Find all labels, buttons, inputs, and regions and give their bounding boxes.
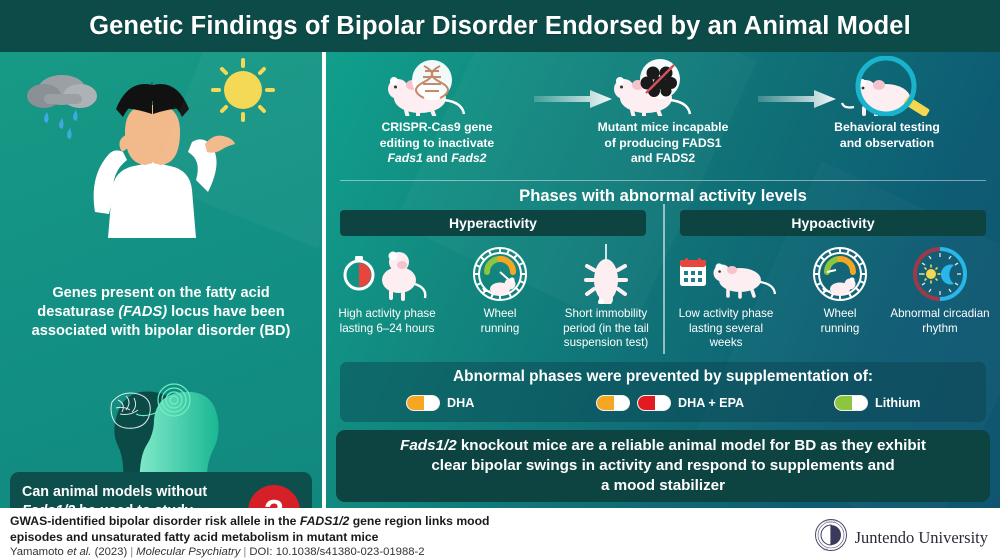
workflow-step-3-label: Behavioral testing and observation (794, 120, 980, 151)
mood-figures-illustration (0, 52, 322, 242)
conclusion-card: Fads1/2 knockout mice are a reliable ani… (336, 430, 990, 502)
symptom-circadian-rhythm: Abnormal circadian rhythm (888, 244, 992, 336)
symptom-wheel-running-high: Wheel running (448, 244, 552, 336)
caption-line-2b: locus have been (167, 304, 285, 320)
sym4-l2: lasting several weeks (689, 322, 763, 350)
mouse-no-fads-icon (570, 56, 756, 116)
figure-sad (94, 84, 154, 238)
figure-happy (152, 84, 235, 238)
supplement-label-lithium: Lithium (875, 396, 920, 410)
juntendo-university-seal-icon: JUNTENDO 1838 (814, 518, 848, 557)
stopwatch-mouse-icon (335, 244, 439, 304)
research-question-card: Can animal models without Fads1/2 be use… (10, 472, 312, 508)
sym3-l2: period (in the tail (563, 322, 649, 335)
paper-title: GWAS-identified bipolar disorder risk al… (10, 514, 710, 545)
running-wheel-gauge-high-icon (448, 244, 552, 304)
citation-year: (2023) (91, 546, 127, 558)
paper-citation: Yamamoto et al. (2023)|Molecular Psychia… (10, 546, 425, 558)
step3-line1: Behavioral testing (834, 120, 940, 134)
sym5-l1: Wheel (824, 307, 857, 320)
symptom-4-text: Low activity phase lasting several weeks (674, 307, 778, 351)
running-wheel-gauge-low-icon (788, 244, 892, 304)
paper-title-gene: FADS1/2 (300, 514, 349, 528)
sym3-l1: Short immobility (565, 307, 647, 320)
phase-header-hyperactivity: Hyperactivity (340, 210, 646, 236)
section-divider (340, 180, 986, 181)
workflow-step-1: CRISPR-Cas9 gene editing to inactivate F… (344, 56, 530, 167)
symptom-2-text: Wheel running (448, 307, 552, 336)
citation-authors: Yamamoto (10, 546, 67, 558)
mouse-magnifier-icon (794, 56, 980, 116)
conclusion-line-2: clear bipolar swings in activity and res… (431, 457, 894, 474)
poster-body: Genes present on the fatty acid desatura… (0, 52, 1000, 508)
sym3-l3: suspension test) (564, 336, 648, 349)
symptom-high-activity-phase: High activity phase lasting 6–24 hours (335, 244, 439, 336)
calendar-mouse-icon (674, 244, 778, 304)
symptom-wheel-running-low: Wheel running (788, 244, 892, 336)
supplementation-title: Abnormal phases were prevented by supple… (340, 368, 986, 386)
mouse-dna-icon (344, 56, 530, 116)
caption-line-1: Genes present on the fatty acid (52, 285, 269, 301)
symptom-low-activity-phase: Low activity phase lasting several weeks (674, 244, 778, 351)
poster-title: Genetic Findings of Bipolar Disorder End… (89, 12, 911, 41)
capsule-icon-dha2 (596, 395, 630, 411)
workflow-step-2: Mutant mice incapable of producing FADS1… (570, 56, 756, 167)
supplementation-box: Abnormal phases were prevented by supple… (340, 362, 986, 422)
capsule-icon-lithium (834, 395, 868, 411)
workflow-steps: CRISPR-Cas9 gene editing to inactivate F… (326, 52, 1000, 174)
conclusion-line-3: a mood stabilizer (601, 477, 725, 494)
citation-journal: Molecular Psychiatry (136, 546, 240, 558)
workflow-step-1-label: CRISPR-Cas9 gene editing to inactivate F… (344, 120, 530, 167)
paper-title-b: gene region links mood (349, 514, 489, 528)
workflow-step-3: Behavioral testing and observation (794, 56, 980, 151)
supplement-label-dha: DHA (447, 396, 474, 410)
step1-gene-b: Fads2 (451, 151, 486, 165)
supplement-item-dha: DHA (406, 395, 474, 411)
circadian-clock-sun-moon-icon (888, 244, 992, 304)
paper-title-a: GWAS-identified bipolar disorder risk al… (10, 514, 300, 528)
sun-icon (213, 60, 273, 120)
capsule-icon-epa (637, 395, 671, 411)
supplement-item-lithium: Lithium (834, 395, 920, 411)
symptom-3-text: Short immobility period (in the tail sus… (554, 307, 658, 351)
phase-header-hypoactivity: Hypoactivity (680, 210, 986, 236)
step1-and: and (423, 151, 451, 165)
university-logo: JUNTENDO 1838 Juntendo University (814, 518, 988, 557)
sym6-l2: rhythm (922, 322, 957, 335)
symptom-short-immobility: Short immobility period (in the tail sus… (554, 244, 658, 351)
caption-line-2a: desaturase (37, 304, 118, 320)
svg-text:1838: 1838 (823, 549, 829, 552)
citation-doi[interactable]: DOI: 10.1038/s41380-023-01988-2 (249, 546, 424, 558)
left-panel: Genes present on the fatty acid desatura… (0, 52, 322, 508)
symptom-1-text: High activity phase lasting 6–24 hours (335, 307, 439, 336)
sym5-l2: running (821, 322, 860, 335)
symptom-5-text: Wheel running (788, 307, 892, 336)
phase-column-divider (663, 204, 665, 354)
moon-icon-small (941, 265, 954, 285)
supplement-pill-row: DHA DHA + EPA Lithium (340, 395, 986, 419)
conclusion-line-1: knockout mice are a reliable animal mode… (457, 437, 926, 454)
poster-footer: GWAS-identified bipolar disorder risk al… (0, 508, 1000, 559)
conclusion-text: Fads1/2 knockout mice are a reliable ani… (400, 436, 926, 496)
citation-etal: et al. (67, 546, 92, 558)
step2-line2: of producing FADS1 (604, 136, 721, 150)
conclusion-gene: Fads1/2 (400, 437, 457, 454)
step2-line3: and FADS2 (631, 151, 695, 165)
step1-gene-a: Fads1 (388, 151, 423, 165)
workflow-step-2-label: Mutant mice incapable of producing FADS1… (570, 120, 756, 167)
rain-cloud-icon (27, 75, 97, 139)
supplement-label-dha-epa: DHA + EPA (678, 396, 744, 410)
question-mark-badge: ? (248, 485, 300, 508)
caption-line-3: associated with bipolar disorder (BD) (32, 323, 291, 339)
svg-text:JUNTENDO: JUNTENDO (823, 520, 837, 523)
right-panel: CRISPR-Cas9 gene editing to inactivate F… (326, 52, 1000, 508)
research-question-text: Can animal models without Fads1/2 be use… (22, 483, 244, 508)
sym2-l1: Wheel (484, 307, 517, 320)
paper-title-line2: episodes and unsaturated fatty acid meta… (10, 530, 378, 544)
university-name: Juntendo University (855, 528, 988, 548)
infographic-poster: Genetic Findings of Bipolar Disorder End… (0, 0, 1000, 559)
sym1-l2: lasting 6–24 hours (340, 322, 435, 335)
sym4-l1: Low activity phase (679, 307, 774, 320)
step1-line1: CRISPR-Cas9 gene (381, 120, 492, 134)
tail-suspension-mouse-icon (554, 244, 658, 304)
sun-icon-small (922, 265, 940, 283)
sym1-l1: High activity phase (338, 307, 435, 320)
question-line-1: Can animal models without (22, 484, 207, 500)
poster-header: Genetic Findings of Bipolar Disorder End… (0, 0, 1000, 52)
sym6-l1: Abnormal circadian (890, 307, 989, 320)
symptom-6-text: Abnormal circadian rhythm (888, 307, 992, 336)
step3-line2: and observation (840, 136, 934, 150)
caption-fads: (FADS) (118, 304, 167, 320)
step2-line1: Mutant mice incapable (598, 120, 729, 134)
supplement-item-dha-epa: DHA + EPA (596, 395, 744, 411)
phases-title: Phases with abnormal activity levels (326, 186, 1000, 206)
step1-line2: editing to inactivate (380, 136, 494, 150)
left-caption: Genes present on the fatty acid desatura… (14, 284, 308, 341)
sym2-l2: running (481, 322, 520, 335)
capsule-icon-dha (406, 395, 440, 411)
